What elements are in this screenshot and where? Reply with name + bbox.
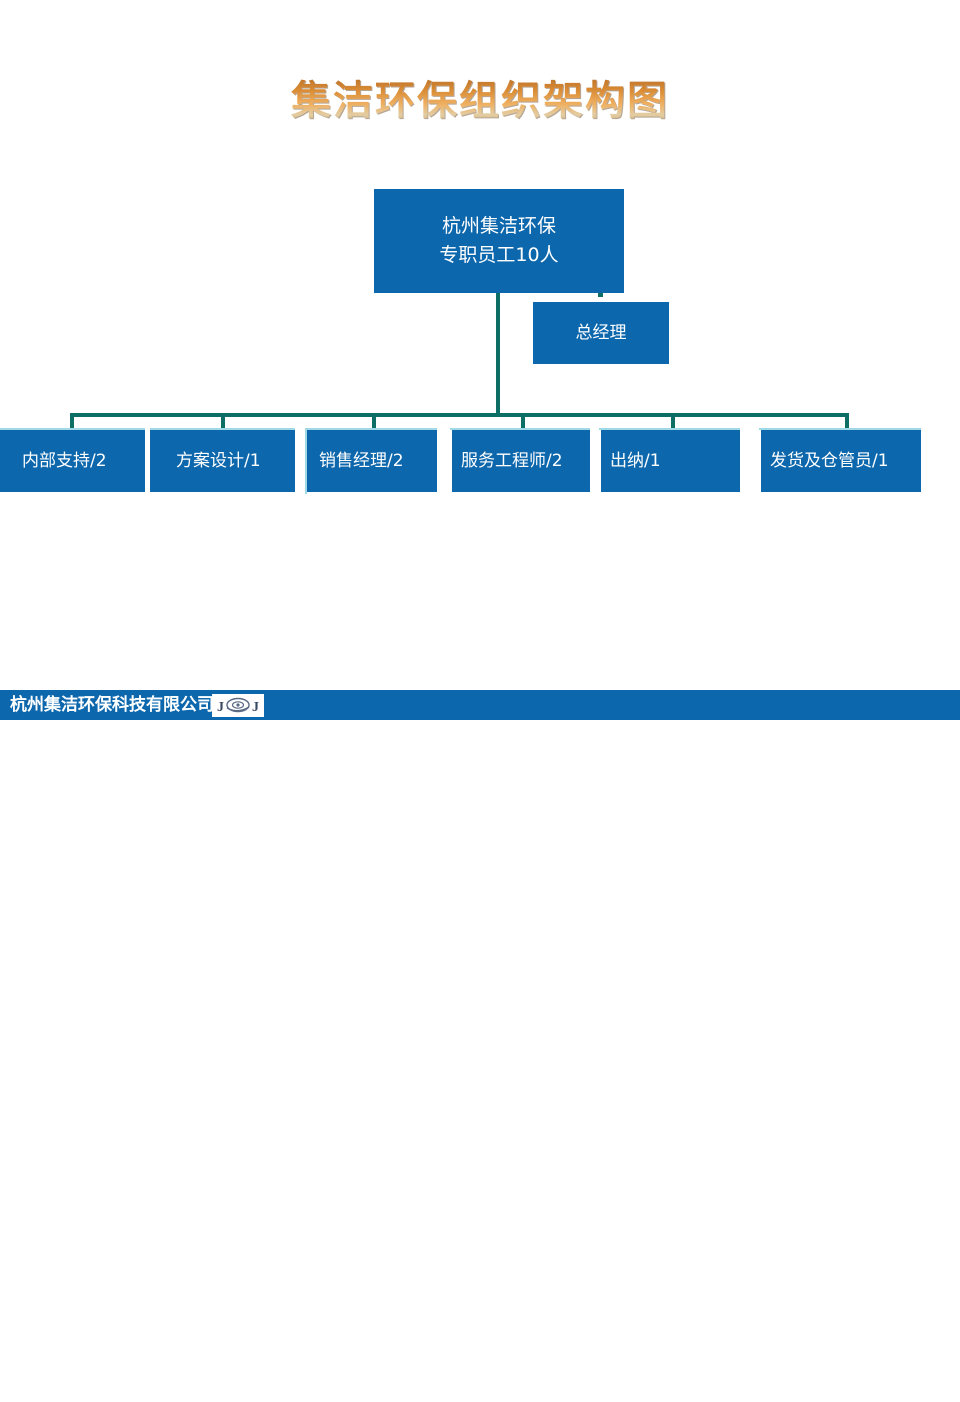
org-node-edge-highlight-3 [305,428,437,430]
org-node-edge-highlight-5 [599,428,740,430]
org-node-dept-shipping-warehouse-label: 发货及仓管员/1 [770,449,889,474]
company-logo-mark: J J [214,696,262,716]
connector-manager-dot [598,293,603,297]
org-node-root-label: 杭州集洁环保专职员工10人 [439,212,558,270]
org-node-dept-solution-design-label: 方案设计/1 [176,449,261,474]
org-node-dept-sales-manager[interactable]: 销售经理/2 [307,430,437,492]
org-node-general-manager[interactable]: 总经理 [533,302,669,364]
org-node-dept-internal-support[interactable]: 内部支持/2 [0,430,145,492]
connector-horizontal-bus [70,413,849,417]
slide-canvas: 集洁环保组织架构图 杭州集洁环保专职员工10人 总经理 内部支持/2 方案设计/… [0,0,960,720]
org-node-dept-shipping-warehouse[interactable]: 发货及仓管员/1 [761,430,921,492]
org-node-root-line2: 专职员工10人 [439,241,558,270]
footer-company-name: 杭州集洁环保科技有限公司 [10,694,214,716]
footer-copyright-text: @杭州集洁，2023年。保留所有权利 @HangZhou JIJIE, 2023… [604,1391,928,1401]
svg-text:J: J [252,700,259,715]
org-node-edge-highlight-1 [0,428,145,430]
org-node-edge-highlight-6 [759,428,921,430]
org-node-dept-cashier-label: 出纳/1 [610,449,661,474]
org-node-dept-service-engineer-label: 服务工程师/2 [461,449,563,474]
page-title: 集洁环保组织架构图 [0,76,960,126]
company-logo: J J [212,694,264,717]
org-node-general-manager-label: 总经理 [576,321,627,346]
org-node-dept-sales-manager-label: 销售经理/2 [319,449,404,474]
org-node-root[interactable]: 杭州集洁环保专职员工10人 [374,189,624,293]
org-node-dept-cashier[interactable]: 出纳/1 [601,430,740,492]
connector-root-stem [496,293,500,417]
org-node-dept-service-engineer[interactable]: 服务工程师/2 [452,430,590,492]
org-node-dept-internal-support-label: 内部支持/2 [22,449,107,474]
footer-bar: 杭州集洁环保科技有限公司 @杭州集洁，2023年。保留所有权利 @HangZho… [0,690,960,720]
svg-text:J: J [217,700,224,715]
footer-copyright: @杭州集洁，2023年。保留所有权利 @HangZhou JIJIE, 2023… [604,1390,928,1402]
org-node-root-line1: 杭州集洁环保 [439,212,558,241]
org-node-edge-highlight-3-left [305,428,307,494]
org-node-dept-solution-design[interactable]: 方案设计/1 [150,430,295,492]
org-node-edge-highlight-4 [450,428,590,430]
org-node-edge-highlight-2 [150,428,295,430]
